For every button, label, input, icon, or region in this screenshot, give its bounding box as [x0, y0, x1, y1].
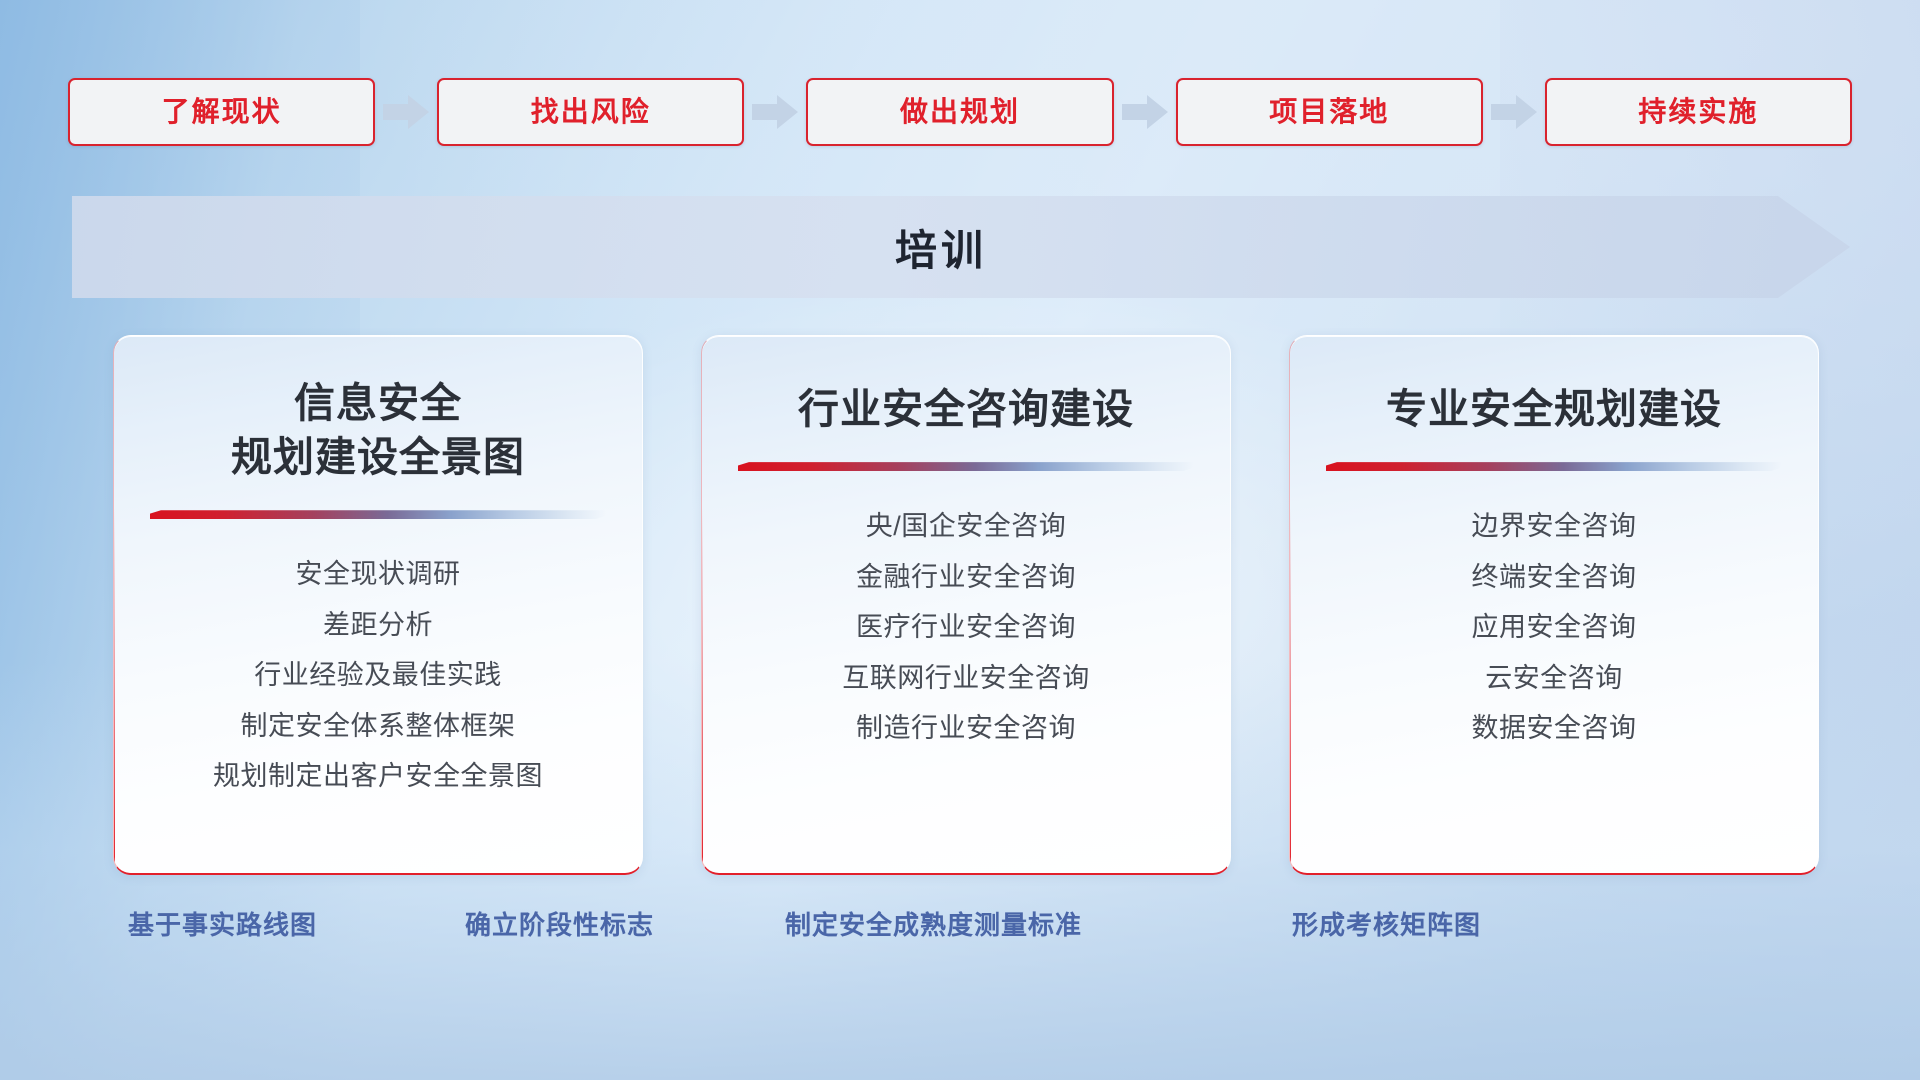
feature-card-3-list: 边界安全咨询 终端安全咨询 应用安全咨询 云安全咨询 数据安全咨询	[1290, 509, 1818, 746]
step-connector-arrow-3	[1114, 90, 1176, 134]
list-item: 央/国企安全咨询	[866, 509, 1067, 544]
training-banner-label: 培训	[72, 196, 1850, 298]
feature-card-2-divider	[738, 462, 1194, 471]
feature-card-row: 信息安全 规划建设全景图 安全现状调研 差距分析 行业经验及最佳实践 制定安全体…	[0, 335, 1920, 875]
list-item: 云安全咨询	[1485, 661, 1623, 696]
list-item: 应用安全咨询	[1472, 610, 1637, 645]
list-item: 终端安全咨询	[1472, 560, 1637, 595]
step-chip-1[interactable]: 了解现状	[68, 78, 375, 146]
step-label-2: 找出风险	[531, 98, 651, 126]
step-label-4: 项目落地	[1269, 98, 1389, 126]
list-item: 数据安全咨询	[1472, 711, 1637, 746]
list-item: 金融行业安全咨询	[856, 560, 1076, 595]
feature-card-2-title-line1: 行业安全咨询建设	[798, 382, 1134, 436]
feature-card-1[interactable]: 信息安全 规划建设全景图 安全现状调研 差距分析 行业经验及最佳实践 制定安全体…	[113, 335, 643, 875]
step-connector-arrow-1	[375, 90, 437, 134]
process-step-row: 了解现状 找出风险 做出规划 项目落地 持续实施	[68, 76, 1852, 148]
list-item: 安全现状调研	[296, 557, 461, 592]
list-item: 制造行业安全咨询	[856, 711, 1076, 746]
feature-card-2-list: 央/国企安全咨询 金融行业安全咨询 医疗行业安全咨询 互联网行业安全咨询 制造行…	[702, 509, 1230, 746]
step-label-1: 了解现状	[162, 98, 282, 126]
list-item: 行业经验及最佳实践	[254, 658, 502, 693]
feature-card-1-list: 安全现状调研 差距分析 行业经验及最佳实践 制定安全体系整体框架 规划制定出客户…	[114, 557, 642, 794]
feature-card-2[interactable]: 行业安全咨询建设 央/国企安全咨询 金融行业安全咨询 医疗行业安全咨询 互联网行…	[701, 335, 1231, 875]
footer-caption-3: 制定安全成熟度测量标准	[785, 905, 1082, 942]
footer-caption-1: 基于事实路线图	[128, 905, 317, 942]
list-item: 边界安全咨询	[1472, 509, 1637, 544]
feature-card-3-divider	[1326, 462, 1782, 471]
step-connector-arrow-2	[744, 90, 806, 134]
footer-caption-4: 形成考核矩阵图	[1292, 905, 1481, 942]
step-connector-arrow-4	[1483, 90, 1545, 134]
list-item: 差距分析	[323, 608, 433, 643]
step-label-3: 做出规划	[900, 98, 1020, 126]
feature-card-3-title-line1: 专业安全规划建设	[1386, 382, 1722, 436]
training-banner: 培训	[72, 196, 1850, 298]
list-item: 医疗行业安全咨询	[856, 610, 1076, 645]
step-chip-5[interactable]: 持续实施	[1545, 78, 1852, 146]
list-item: 规划制定出客户安全全景图	[213, 759, 543, 794]
footer-caption-row: 基于事实路线图 确立阶段性标志 制定安全成熟度测量标准 形成考核矩阵图	[0, 905, 1920, 961]
step-label-5: 持续实施	[1638, 98, 1758, 126]
list-item: 互联网行业安全咨询	[842, 661, 1090, 696]
feature-card-2-title: 行业安全咨询建设	[772, 382, 1160, 436]
feature-card-1-title-line2: 规划建设全景图	[231, 430, 525, 484]
step-chip-4[interactable]: 项目落地	[1176, 78, 1483, 146]
step-chip-2[interactable]: 找出风险	[437, 78, 744, 146]
feature-card-3[interactable]: 专业安全规划建设 边界安全咨询 终端安全咨询 应用安全咨询 云安全咨询 数据安全…	[1289, 335, 1819, 875]
footer-caption-2: 确立阶段性标志	[465, 905, 654, 942]
list-item: 制定安全体系整体框架	[241, 709, 516, 744]
step-chip-3[interactable]: 做出规划	[806, 78, 1113, 146]
feature-card-1-divider	[150, 510, 606, 519]
feature-card-1-title: 信息安全 规划建设全景图	[205, 376, 551, 484]
feature-card-3-title: 专业安全规划建设	[1360, 382, 1748, 436]
feature-card-1-title-line1: 信息安全	[231, 376, 525, 430]
